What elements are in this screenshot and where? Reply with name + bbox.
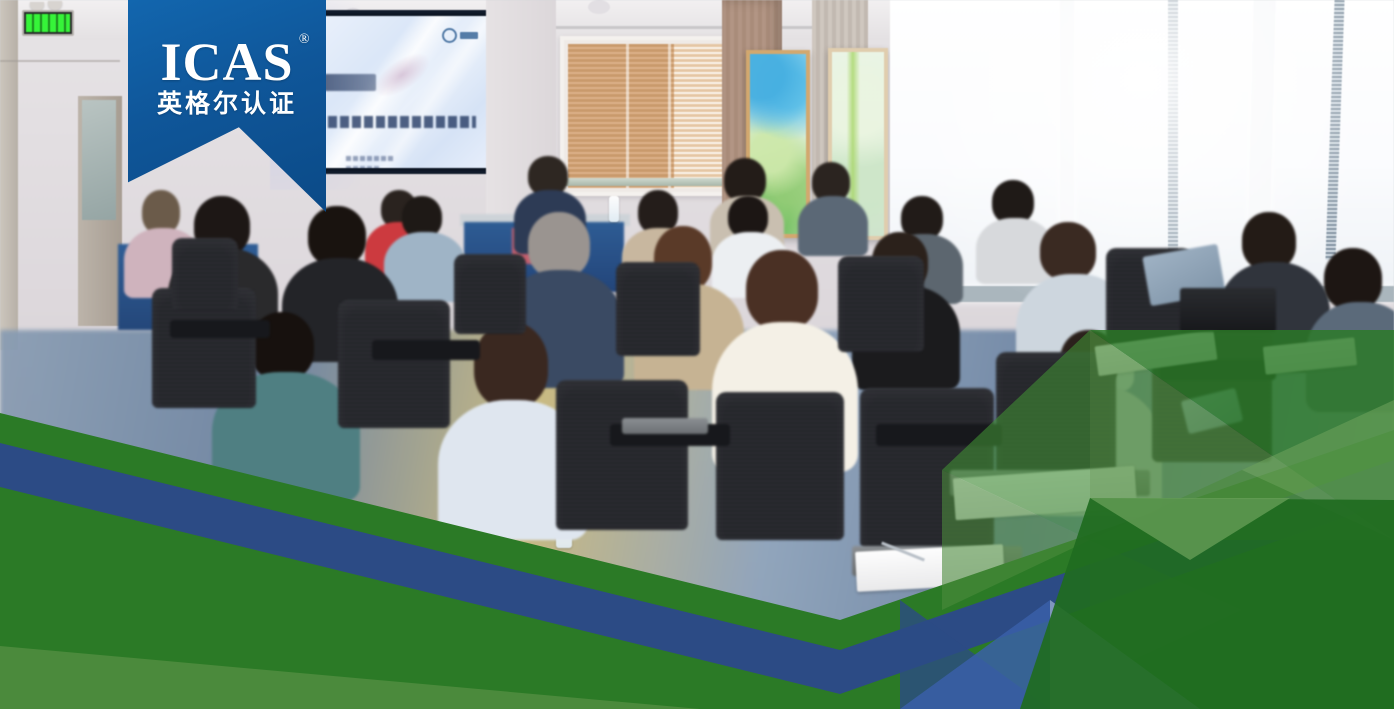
chair-arm (170, 320, 270, 338)
venetian-blinds-right (674, 44, 722, 188)
icas-logo-inner: ICAS ® 英格尔认证 (128, 0, 326, 150)
screen-footnote-line-1 (346, 156, 394, 161)
screen-headline-text (324, 74, 376, 91)
blind-divider (626, 44, 629, 188)
chair-back (860, 388, 994, 548)
chair-arm (372, 340, 480, 360)
chair-back (172, 238, 238, 310)
blind-divider (668, 44, 671, 188)
window-sill (556, 178, 726, 186)
projection-screen (318, 10, 492, 174)
chair-back (616, 262, 700, 356)
screen-footnote-line-2 (346, 166, 380, 168)
chair-back (716, 392, 844, 540)
window-with-blinds (560, 36, 730, 196)
banner-stage: ICAS ® 英格尔认证 (0, 0, 1394, 709)
registered-trademark-icon: ® (299, 33, 311, 47)
wall-panel-seam (0, 60, 120, 62)
laptop-device (1180, 288, 1276, 332)
exit-sign-glow (26, 14, 70, 32)
water-bottle (609, 196, 619, 222)
screen-brand-mark (442, 28, 478, 43)
chair-writing-tablet (622, 418, 708, 434)
screen-subline-text (328, 116, 476, 128)
left-wall-column (0, 0, 18, 350)
chair-back (454, 254, 526, 334)
icas-wordmark-text: ICAS (160, 32, 293, 92)
chair-arm (876, 424, 1002, 446)
icas-wordmark: ICAS ® (160, 35, 293, 89)
screen-logo-wordmark (460, 32, 478, 39)
screen-logo-ring-icon (442, 28, 457, 43)
chair-back (338, 300, 450, 428)
screen-surface (324, 16, 486, 168)
handout-papers (855, 544, 1005, 592)
door-glass (82, 100, 116, 220)
chair-back (556, 380, 688, 530)
exit-sign (22, 10, 74, 36)
icas-chinese-name: 英格尔认证 (157, 91, 297, 116)
chair-back (838, 256, 924, 352)
ceiling-light (588, 0, 610, 14)
